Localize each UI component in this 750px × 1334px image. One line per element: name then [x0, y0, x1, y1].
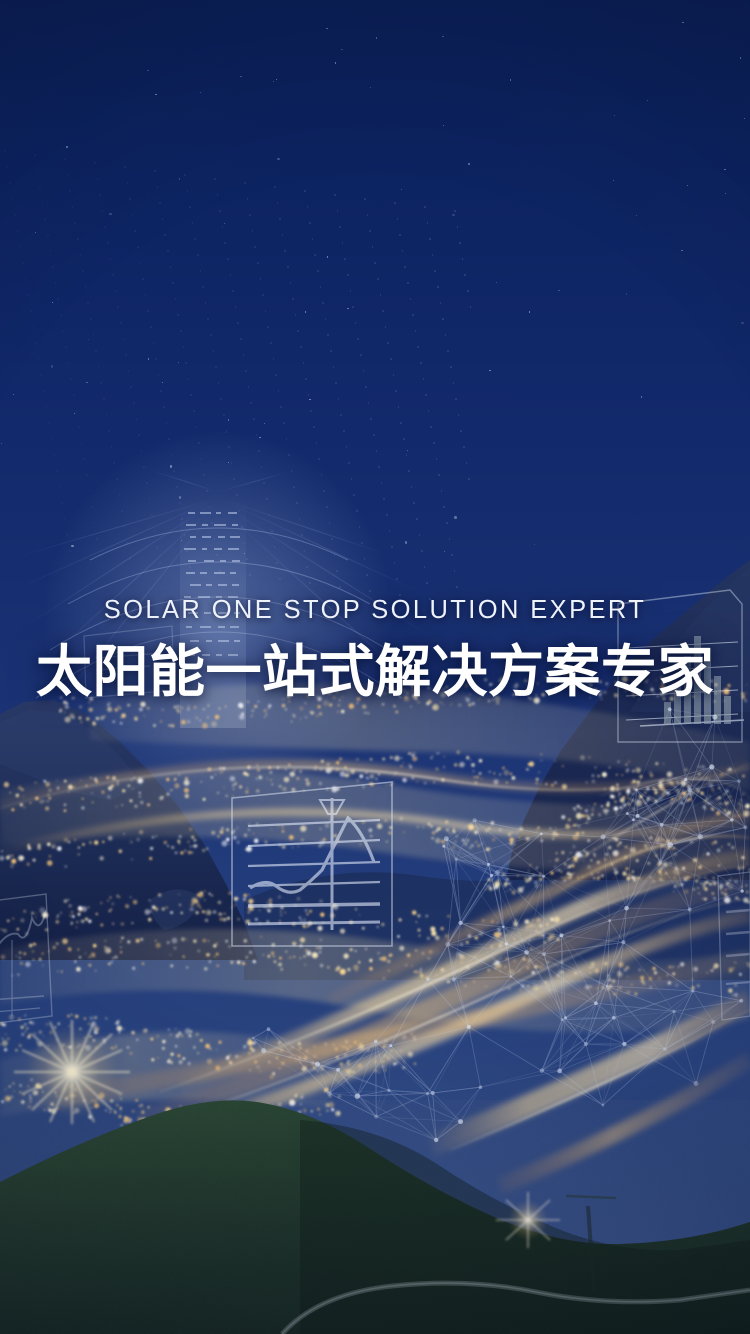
winding-road — [282, 1283, 750, 1334]
hero-headline: 太阳能一站式解决方案专家 — [0, 642, 750, 702]
hero-banner: SOLAR ONE STOP SOLUTION EXPERT 太阳能一站式解决方… — [0, 0, 750, 1334]
hero-text-block: SOLAR ONE STOP SOLUTION EXPERT 太阳能一站式解决方… — [0, 596, 750, 702]
right-edge-panel — [718, 872, 750, 1020]
left-graph-panel — [0, 894, 52, 1024]
line-chart-panel — [232, 782, 392, 946]
hero-eyebrow: SOLAR ONE STOP SOLUTION EXPERT — [0, 596, 750, 625]
left-mountain-ridge — [0, 700, 258, 960]
